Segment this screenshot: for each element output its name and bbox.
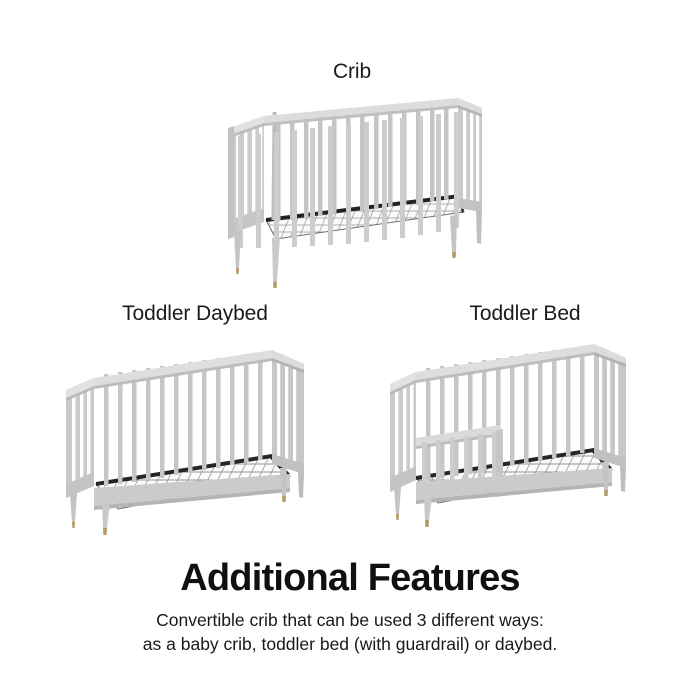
crib-illustration (214, 92, 490, 288)
description-line-1: Convertible crib that can be used 3 diff… (0, 608, 700, 632)
daybed-left-end-panel (66, 378, 94, 498)
toddler-daybed-illustration (58, 336, 314, 536)
additional-features-description: Convertible crib that can be used 3 diff… (0, 608, 700, 656)
toddler-daybed-label: Toddler Daybed (55, 302, 335, 326)
additional-features-title: Additional Features (0, 556, 700, 600)
description-line-2: as a baby crib, toddler bed (with guardr… (0, 632, 700, 656)
toddler-bed-illustration (382, 336, 638, 528)
additional-features-block: Additional Features Convertible crib tha… (0, 556, 700, 656)
crib-label: Crib (252, 60, 452, 84)
product-feature-panel: Crib (0, 0, 700, 700)
daybed-right-end-panel (272, 350, 304, 474)
toddler-bed-right-end-panel (594, 344, 626, 468)
toddler-bed-label: Toddler Bed (385, 302, 665, 326)
crib-right-end-panel (458, 98, 482, 212)
toddler-bed-left-end-panel (390, 372, 416, 492)
